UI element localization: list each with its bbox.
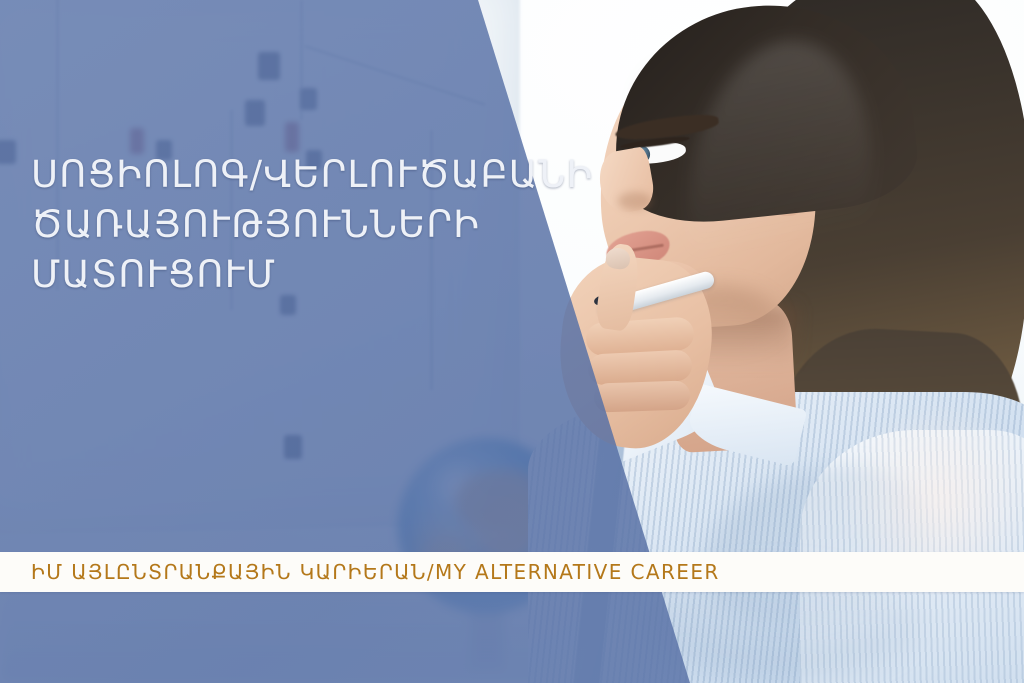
nose-shadow bbox=[618, 192, 652, 210]
finger bbox=[594, 380, 691, 412]
poster-canvas: ՍՈՑԻՈԼՈԳ/ՎԵՐԼՈՒԾԱԲԱՆԻ ԾԱՌԱՅՈՒԹՅՈՒՆՆԵՐԻ Մ… bbox=[0, 0, 1024, 683]
headline-line-2: ԾԱՌԱՅՈՒԹՅՈՒՆՆԵՐԻ bbox=[31, 200, 551, 250]
banner-title: ԻՄ ԱՅԼԸՆՏՐԱՆՔԱՅԻՆ ԿԱՐԻԵՐԱՆ/MY ALTERNATIV… bbox=[31, 560, 720, 584]
bottom-banner: ԻՄ ԱՅԼԸՆՏՐԱՆՔԱՅԻՆ ԿԱՐԻԵՐԱՆ/MY ALTERNATIV… bbox=[0, 552, 1024, 592]
headline-line-1: ՍՈՑԻՈԼՈԳ/ՎԵՐԼՈՒԾԱԲԱՆԻ bbox=[31, 150, 551, 200]
headline: ՍՈՑԻՈԼՈԳ/ՎԵՐԼՈՒԾԱԲԱՆԻ ԾԱՌԱՅՈՒԹՅՈՒՆՆԵՐԻ Մ… bbox=[31, 150, 551, 300]
headline-line-3: ՄԱՏՈՒՑՈՒՄ bbox=[31, 250, 551, 300]
